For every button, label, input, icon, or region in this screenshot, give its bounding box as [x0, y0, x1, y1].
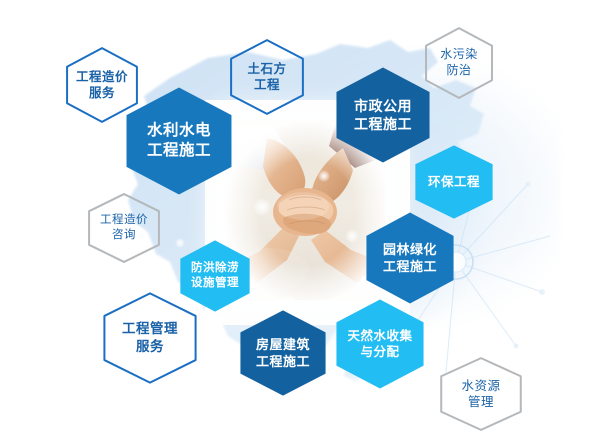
- hex-earthwork-engineering[interactable]: 土石方 工程: [230, 39, 304, 115]
- hexagon-shape: [103, 292, 197, 384]
- hexagon-shape: [230, 39, 304, 115]
- hexagon-shape: [425, 27, 493, 99]
- hex-engineering-management-service[interactable]: 工程管理 服务: [103, 292, 197, 384]
- hex-environmental-protection-engineering[interactable]: 环保工程: [415, 145, 493, 219]
- hex-water-resource-management[interactable]: 水资源 管理: [440, 357, 522, 431]
- infographic-canvas: 工程造价 服务土石方 工程水利水电 工程施工市政公用 工程施工水污染 防治环保工…: [0, 0, 600, 439]
- hexagon-shape: [88, 193, 160, 263]
- hex-engineering-cost-consulting[interactable]: 工程造价 咨询: [88, 193, 160, 263]
- hex-building-construction-engineering[interactable]: 房屋建筑 工程施工: [240, 310, 326, 396]
- hex-natural-water-collection-distribution[interactable]: 天然水收集 与分配: [336, 299, 424, 389]
- hexagon-shape: [240, 310, 326, 396]
- hex-water-conservancy-hydropower-construction[interactable]: 水利水电 工程施工: [126, 87, 232, 195]
- hexagon-shape: [415, 145, 493, 219]
- hex-landscaping-engineering-construction[interactable]: 园林绿化 工程施工: [366, 212, 454, 304]
- hexagon-shape: [440, 357, 522, 431]
- hexagon-shape: [126, 87, 232, 195]
- hexagon-shape: [336, 299, 424, 389]
- hexagon-shape: [366, 212, 454, 304]
- hex-water-pollution-control[interactable]: 水污染 防治: [425, 27, 493, 99]
